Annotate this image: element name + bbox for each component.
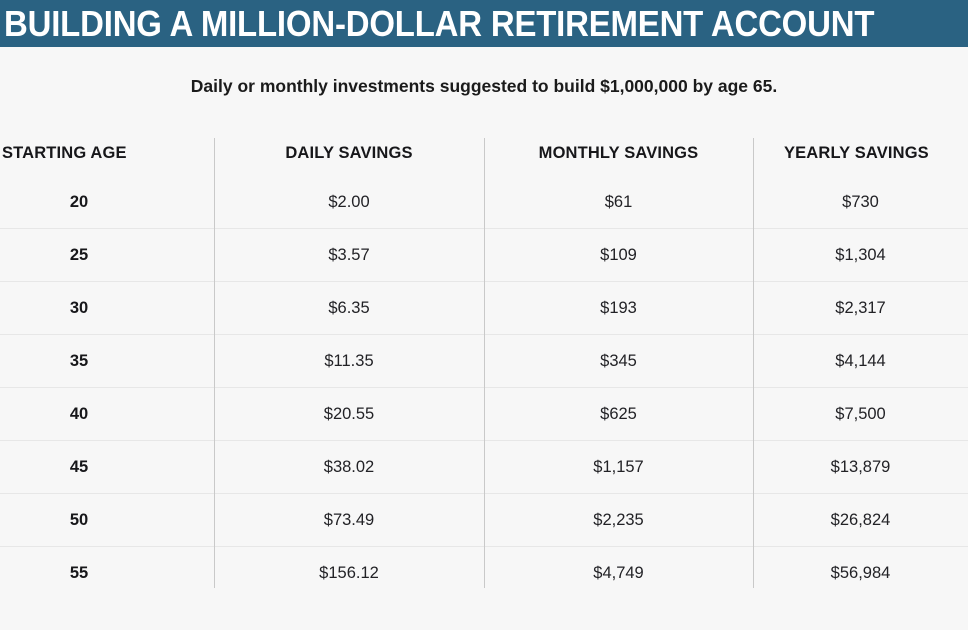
cell-starting-age: 50 [0,494,214,547]
cell-monthly-savings: $193 [484,282,753,335]
cell-starting-age: 55 [0,547,214,600]
cell-daily-savings: $3.57 [214,229,484,282]
cell-monthly-savings: $625 [484,388,753,441]
cell-monthly-savings: $4,749 [484,547,753,600]
cell-monthly-savings: $61 [484,176,753,229]
cell-yearly-savings: $730 [753,176,968,229]
cell-yearly-savings: $13,879 [753,441,968,494]
cell-daily-savings: $20.55 [214,388,484,441]
cell-starting-age: 25 [0,229,214,282]
column-header-starting-age: STARTING AGE [0,130,214,176]
cell-starting-age: 20 [0,176,214,229]
cell-monthly-savings: $109 [484,229,753,282]
cell-daily-savings: $11.35 [214,335,484,388]
cell-yearly-savings: $4,144 [753,335,968,388]
cell-monthly-savings: $1,157 [484,441,753,494]
column-divider-1 [214,138,215,588]
column-header-yearly-savings: YEARLY SAVINGS [753,130,968,176]
column-divider-3 [753,138,754,588]
title-banner: BUILDING A MILLION-DOLLAR RETIREMENT ACC… [0,0,968,47]
cell-yearly-savings: $26,824 [753,494,968,547]
cell-yearly-savings: $56,984 [753,547,968,600]
cell-monthly-savings: $2,235 [484,494,753,547]
infographic-root: BUILDING A MILLION-DOLLAR RETIREMENT ACC… [0,0,968,630]
cell-daily-savings: $6.35 [214,282,484,335]
cell-daily-savings: $73.49 [214,494,484,547]
cell-daily-savings: $156.12 [214,547,484,600]
page-title: BUILDING A MILLION-DOLLAR RETIREMENT ACC… [4,6,874,42]
cell-starting-age: 30 [0,282,214,335]
cell-daily-savings: $38.02 [214,441,484,494]
cell-yearly-savings: $1,304 [753,229,968,282]
cell-starting-age: 35 [0,335,214,388]
column-header-monthly-savings: MONTHLY SAVINGS [484,130,753,176]
subtitle-text: Daily or monthly investments suggested t… [0,76,968,97]
cell-yearly-savings: $2,317 [753,282,968,335]
cell-yearly-savings: $7,500 [753,388,968,441]
cell-starting-age: 45 [0,441,214,494]
cell-starting-age: 40 [0,388,214,441]
column-header-daily-savings: DAILY SAVINGS [214,130,484,176]
cell-daily-savings: $2.00 [214,176,484,229]
column-divider-2 [484,138,485,588]
cell-monthly-savings: $345 [484,335,753,388]
